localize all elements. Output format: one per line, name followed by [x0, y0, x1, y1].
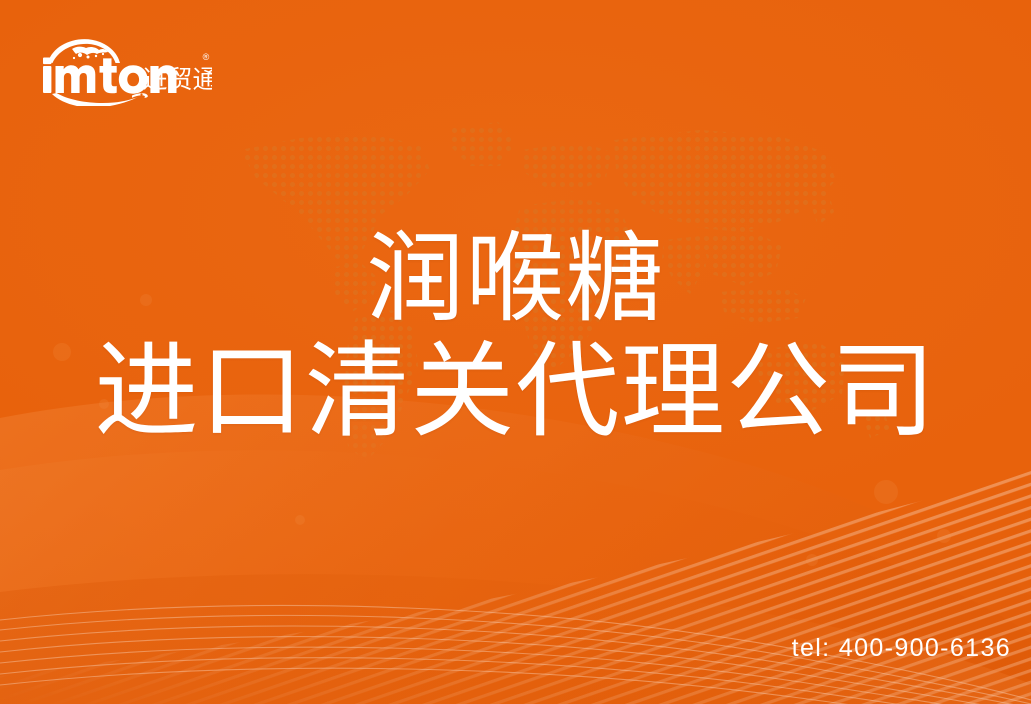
- headline-line-1: 润喉糖: [0, 228, 1031, 330]
- headline: 润喉糖 进口清关代理公司: [0, 228, 1031, 446]
- logo-chinese-name: 进贸通: [142, 65, 212, 94]
- brand-logo[interactable]: 进贸通 ®: [36, 32, 212, 106]
- phone-number[interactable]: tel: 400-900-6136: [792, 634, 1011, 663]
- headline-line-2: 进口清关代理公司: [0, 338, 1031, 446]
- swoosh-icon: [52, 93, 148, 106]
- registered-trademark-icon: ®: [203, 52, 210, 62]
- promo-banner: 进贸通 ® 润喉糖 进口清关代理公司 tel: 400-900-6136: [0, 0, 1031, 704]
